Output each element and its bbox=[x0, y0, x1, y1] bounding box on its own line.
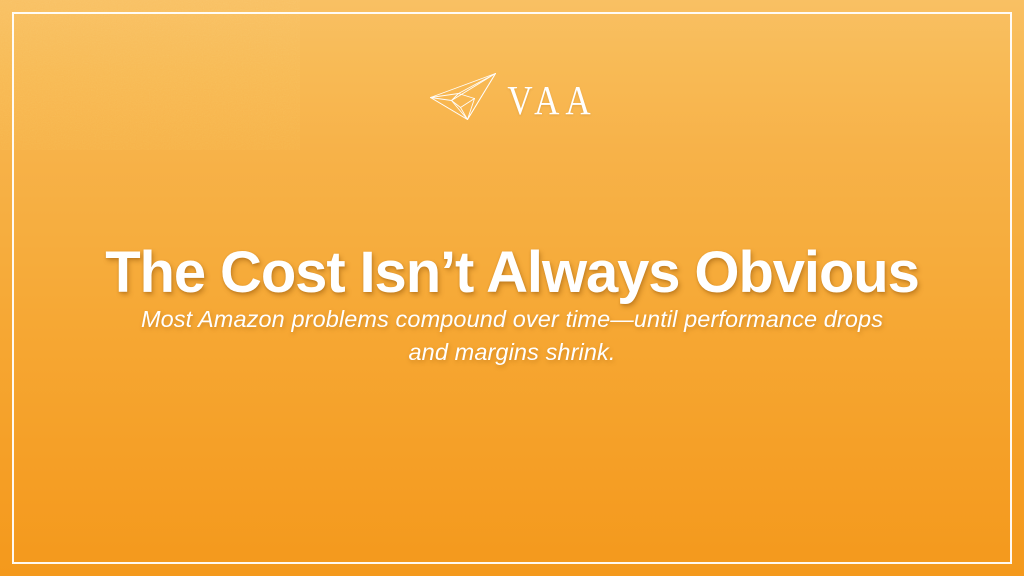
slide-subhead: Most Amazon problems compound over time—… bbox=[62, 303, 962, 369]
brand-wordmark: VAA bbox=[505, 79, 596, 120]
slide-headline: The Cost Isn’t Always Obvious bbox=[0, 238, 1024, 308]
brand-logo-lockup: VAA bbox=[0, 68, 1024, 132]
presentation-slide: VAA The Cost Isn’t Always Obvious Most A… bbox=[0, 0, 1024, 576]
slide-subhead-line-2: and margins shrink. bbox=[62, 336, 962, 369]
slide-content: VAA The Cost Isn’t Always Obvious Most A… bbox=[0, 0, 1024, 576]
slide-subhead-line-1: Most Amazon problems compound over time—… bbox=[62, 303, 962, 336]
origami-dart-wireframe-icon bbox=[427, 70, 499, 130]
